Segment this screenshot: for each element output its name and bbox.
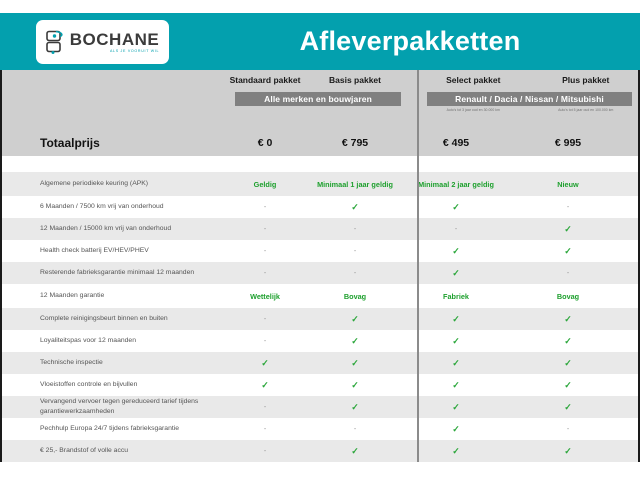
row-cell: ✓	[512, 224, 624, 235]
bochane-logo[interactable]: BOCHANE ALS JE VOORUIT WIL	[36, 20, 169, 64]
row-cell: -	[220, 448, 310, 455]
check-icon: ✓	[452, 402, 460, 412]
cell-text: Bovag	[557, 292, 579, 301]
table-row: Algemene periodieke keuring (APK)GeldigM…	[2, 172, 638, 196]
row-cell: Bovag	[310, 292, 400, 301]
check-icon: ✓	[261, 380, 269, 390]
row-cell: Minimaal 1 jaar geldig	[310, 180, 400, 189]
dash-icon: -	[354, 226, 356, 233]
total-price-label: Totaalprijs	[2, 136, 220, 150]
row-cell: Nieuw	[512, 180, 624, 189]
row-label: 12 Maanden garantie	[2, 291, 220, 301]
table-row: Pechhulp Europa 24/7 tijdens fabrieksgar…	[2, 418, 638, 440]
row-label: 12 Maanden / 15000 km vrij van onderhoud	[2, 224, 220, 234]
row-label: 6 Maanden / 7500 km vrij van onderhoud	[2, 202, 220, 212]
row-label: Technische inspectie	[2, 358, 220, 368]
cell-text: Bovag	[344, 292, 366, 301]
row-label: Health check batterij EV/HEV/PHEV	[2, 246, 220, 256]
row-cell: ✓	[512, 314, 624, 325]
row-cell: ✓	[310, 358, 400, 369]
package-comparison-table: Standaard pakket Basis pakket Alle merke…	[0, 70, 640, 462]
dash-icon: -	[264, 426, 266, 433]
total-price-basis: € 795	[310, 137, 400, 149]
check-icon: ✓	[564, 380, 572, 390]
row-label: Resterende fabrieksgarantie minimaal 12 …	[2, 268, 220, 278]
row-cell: -	[310, 426, 400, 433]
dash-icon: -	[264, 204, 266, 211]
dash-icon: -	[455, 226, 457, 233]
package-group-right: Select pakket Plus pakket Renault / Daci…	[417, 70, 640, 130]
check-icon: ✓	[261, 358, 269, 368]
check-icon: ✓	[452, 202, 460, 212]
total-price-plus: € 995	[512, 137, 624, 149]
row-label: Loyaliteitspas voor 12 maanden	[2, 336, 220, 346]
total-price-row: Totaalprijs € 0 € 795 € 495 € 995	[2, 130, 638, 156]
dash-icon: -	[567, 426, 569, 433]
table-row: 6 Maanden / 7500 km vrij van onderhoud-✓…	[2, 196, 638, 218]
dash-icon: -	[264, 338, 266, 345]
row-cell: -	[220, 204, 310, 211]
bochane-logo-mark	[46, 30, 65, 54]
row-cell: Bovag	[512, 292, 624, 301]
row-cell: ✓	[512, 246, 624, 257]
row-cell: -	[310, 226, 400, 233]
row-label: Algemene periodieke keuring (APK)	[2, 179, 220, 189]
dash-icon: -	[264, 226, 266, 233]
bochane-logo-text: BOCHANE ALS JE VOORUIT WIL	[70, 31, 159, 54]
table-row: € 25,- Brandstof of volle accu-✓✓✓	[2, 440, 638, 462]
check-icon: ✓	[351, 336, 359, 346]
check-icon: ✓	[564, 246, 572, 256]
table-row: Loyaliteitspas voor 12 maanden-✓✓✓	[2, 330, 638, 352]
column-note-plus: Auto's tot 5 jaar oud en 100.000 km	[530, 108, 640, 112]
dash-icon: -	[264, 270, 266, 277]
row-cell: -	[512, 426, 624, 433]
check-icon: ✓	[452, 380, 460, 390]
table-row: 12 Maanden garantieWettelijkBovagFabriek…	[2, 284, 638, 308]
check-icon: ✓	[351, 446, 359, 456]
row-cell: ✓	[512, 380, 624, 391]
row-cell: -	[310, 248, 400, 255]
bochane-logo-word: BOCHANE	[70, 31, 159, 48]
check-icon: ✓	[452, 336, 460, 346]
check-icon: ✓	[351, 380, 359, 390]
check-icon: ✓	[452, 446, 460, 456]
total-price-standaard: € 0	[220, 137, 310, 149]
row-cell: ✓	[310, 314, 400, 325]
row-cell: ✓	[310, 202, 400, 213]
dash-icon: -	[264, 404, 266, 411]
row-cell: -	[220, 270, 310, 277]
cell-text: Geldig	[254, 180, 277, 189]
row-cell: Wettelijk	[220, 292, 310, 301]
row-cell: ✓	[512, 336, 624, 347]
column-header-plus: Plus pakket	[530, 75, 640, 85]
check-icon: ✓	[351, 314, 359, 324]
dash-icon: -	[264, 316, 266, 323]
row-cell: -	[220, 248, 310, 255]
bochane-logo-tagline: ALS JE VOORUIT WIL	[110, 50, 159, 54]
table-row: Vloeistoffen controle en bijvullen✓✓✓✓	[2, 374, 638, 396]
dash-icon: -	[264, 248, 266, 255]
dash-icon: -	[354, 248, 356, 255]
check-icon: ✓	[351, 202, 359, 212]
column-header-select: Select pakket	[417, 75, 530, 85]
cell-text: Wettelijk	[250, 292, 280, 301]
table-row: Health check batterij EV/HEV/PHEV--✓✓	[2, 240, 638, 262]
row-cell: ✓	[512, 402, 624, 413]
header-spacer	[2, 156, 638, 172]
cell-text: Nieuw	[557, 180, 579, 189]
row-cell: ✓	[310, 380, 400, 391]
column-note-select: Auto's tot 3 jaar oud en 30.000 km	[417, 108, 530, 112]
row-cell: ✓	[310, 402, 400, 413]
feature-rows: Algemene periodieke keuring (APK)GeldigM…	[2, 172, 638, 462]
row-label: Complete reinigingsbeurt binnen en buite…	[2, 314, 220, 324]
page-title: Afleverpakketten	[180, 13, 640, 70]
row-label: € 25,- Brandstof of volle accu	[2, 446, 220, 456]
column-header-basis: Basis pakket	[310, 75, 400, 85]
row-cell: -	[512, 204, 624, 211]
table-row: 12 Maanden / 15000 km vrij van onderhoud…	[2, 218, 638, 240]
table-row: Complete reinigingsbeurt binnen en buite…	[2, 308, 638, 330]
cell-text: Minimaal 1 jaar geldig	[317, 180, 393, 189]
row-cell: -	[220, 426, 310, 433]
group-divider	[417, 70, 419, 462]
check-icon: ✓	[564, 358, 572, 368]
cell-text: Fabriek	[443, 292, 469, 301]
dash-icon: -	[567, 204, 569, 211]
dash-icon: -	[264, 448, 266, 455]
check-icon: ✓	[351, 358, 359, 368]
row-label: Pechhulp Europa 24/7 tijdens fabrieksgar…	[2, 424, 220, 434]
table-row: Vervangend vervoer tegen gereduceerd tar…	[2, 396, 638, 418]
check-icon: ✓	[452, 268, 460, 278]
check-icon: ✓	[452, 314, 460, 324]
check-icon: ✓	[564, 224, 572, 234]
dash-icon: -	[354, 270, 356, 277]
check-icon: ✓	[564, 446, 572, 456]
row-label: Vervangend vervoer tegen gereduceerd tar…	[2, 397, 220, 417]
column-header-standaard: Standaard pakket	[220, 75, 310, 85]
check-icon: ✓	[351, 402, 359, 412]
dash-icon: -	[354, 426, 356, 433]
row-cell: ✓	[512, 358, 624, 369]
row-cell: -	[220, 226, 310, 233]
cell-text: Minimaal 2 jaar geldig	[418, 180, 494, 189]
afleverpakketten-page: BOCHANE ALS JE VOORUIT WIL Afleverpakket…	[0, 0, 640, 480]
row-cell: -	[220, 316, 310, 323]
package-group-left: Standaard pakket Basis pakket Alle merke…	[2, 70, 417, 130]
check-icon: ✓	[564, 402, 572, 412]
row-cell: -	[220, 338, 310, 345]
row-cell: -	[220, 404, 310, 411]
check-icon: ✓	[452, 246, 460, 256]
group-banner-left: Alle merken en bouwjaren	[235, 92, 401, 106]
check-icon: ✓	[452, 424, 460, 434]
row-cell: ✓	[310, 446, 400, 457]
table-header: Standaard pakket Basis pakket Alle merke…	[2, 70, 638, 130]
row-cell: ✓	[220, 358, 310, 369]
row-cell: ✓	[310, 336, 400, 347]
table-row: Technische inspectie✓✓✓✓	[2, 352, 638, 374]
table-row: Resterende fabrieksgarantie minimaal 12 …	[2, 262, 638, 284]
row-cell: -	[512, 270, 624, 277]
row-cell: Geldig	[220, 180, 310, 189]
row-cell: -	[310, 270, 400, 277]
check-icon: ✓	[564, 336, 572, 346]
row-label: Vloeistoffen controle en bijvullen	[2, 380, 220, 390]
group-banner-right: Renault / Dacia / Nissan / Mitsubishi	[427, 92, 632, 106]
check-icon: ✓	[452, 358, 460, 368]
row-cell: ✓	[220, 380, 310, 391]
check-icon: ✓	[564, 314, 572, 324]
dash-icon: -	[567, 270, 569, 277]
page-header: BOCHANE ALS JE VOORUIT WIL Afleverpakket…	[0, 13, 640, 70]
row-cell: ✓	[512, 446, 624, 457]
